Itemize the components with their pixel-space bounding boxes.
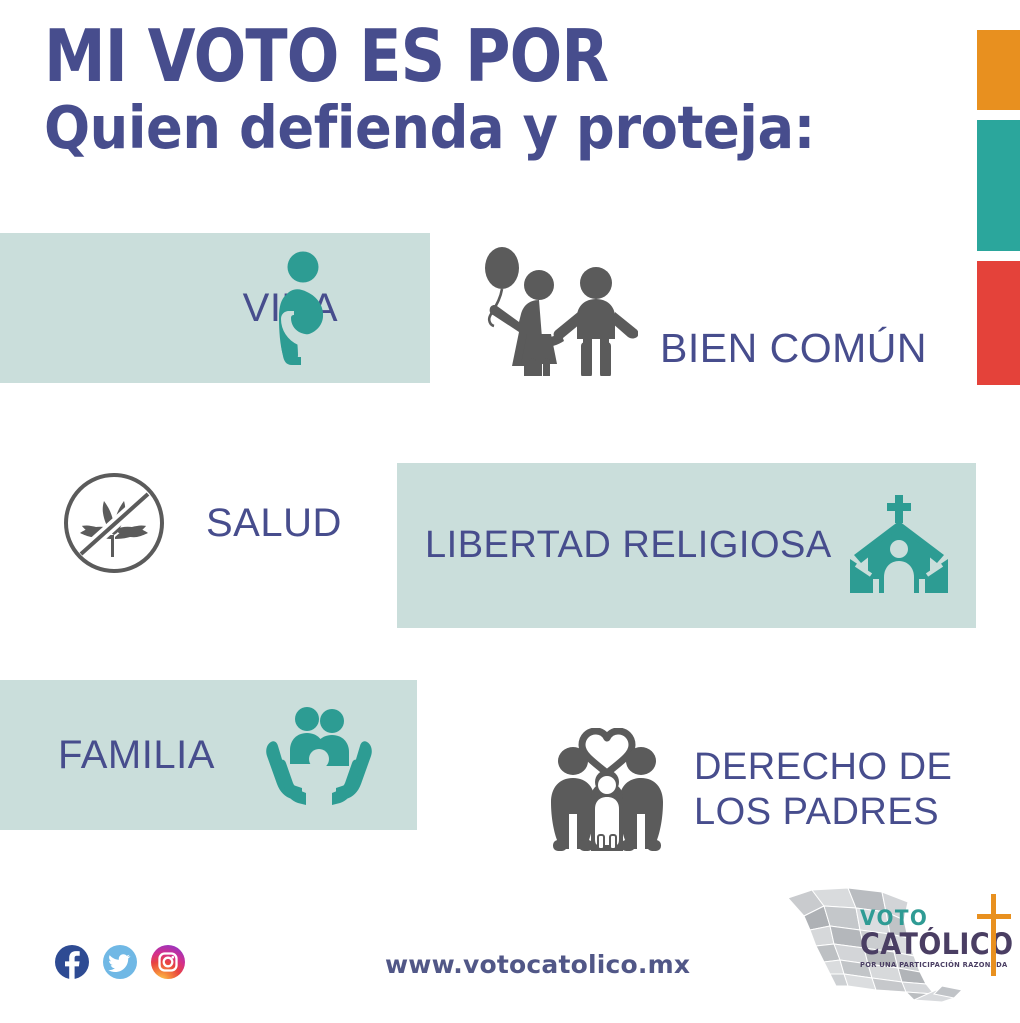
- poster-canvas: MI VOTO ES POR Quien defienda y proteja:…: [0, 0, 1020, 1023]
- facebook-icon[interactable]: [55, 945, 89, 979]
- poster-title: MI VOTO ES POR Quien defienda y proteja:: [44, 22, 954, 160]
- voto-catolico-logo: VOTO CATÓLICO POR UNA PARTICIPACIÓN RAZO…: [786, 886, 1014, 1004]
- accent-bar-orange: [977, 30, 1020, 110]
- accent-bar-red: [977, 261, 1020, 385]
- value-label-line-2: LOS PADRES: [694, 790, 952, 835]
- instagram-icon[interactable]: [151, 945, 185, 979]
- value-item-bien-comun: BIEN COMÚN: [478, 236, 948, 386]
- value-item-libertad-religiosa: LIBERTAD RELIGIOSA: [397, 463, 976, 628]
- family-with-heart-icon: [548, 728, 666, 853]
- value-label-familia: FAMILIA: [58, 733, 215, 778]
- value-label-derecho-de-los-padres: DERECHO DE LOS PADRES: [694, 745, 952, 835]
- accent-bar-teal: [977, 120, 1020, 251]
- website-url[interactable]: www.votocatolico.mx: [385, 950, 690, 979]
- twitter-icon[interactable]: [103, 945, 137, 979]
- value-label-line-1: DERECHO DE: [694, 745, 952, 790]
- value-item-salud: SALUD: [62, 463, 402, 583]
- page-title-line-2: Quien defienda y proteja:: [44, 96, 881, 160]
- social-links: [55, 945, 185, 979]
- value-label-libertad-religiosa: LIBERTAD RELIGIOSA: [425, 524, 832, 567]
- value-item-vida: VIDA: [0, 233, 430, 383]
- value-label-bien-comun: BIEN COMÚN: [660, 325, 927, 372]
- value-item-familia: FAMILIA: [0, 680, 417, 830]
- two-children-with-balloon-icon: [478, 246, 638, 376]
- page-title-line-1: MI VOTO ES POR: [44, 22, 827, 90]
- no-cannabis-icon: [62, 471, 166, 575]
- value-item-derecho-de-los-padres: DERECHO DE LOS PADRES: [548, 720, 968, 860]
- cross-icon: [974, 892, 1014, 978]
- hands-holding-family-icon: [263, 702, 375, 806]
- value-label-salud: SALUD: [206, 501, 342, 546]
- church-icon: [840, 493, 958, 598]
- pregnant-woman-icon: [256, 251, 346, 367]
